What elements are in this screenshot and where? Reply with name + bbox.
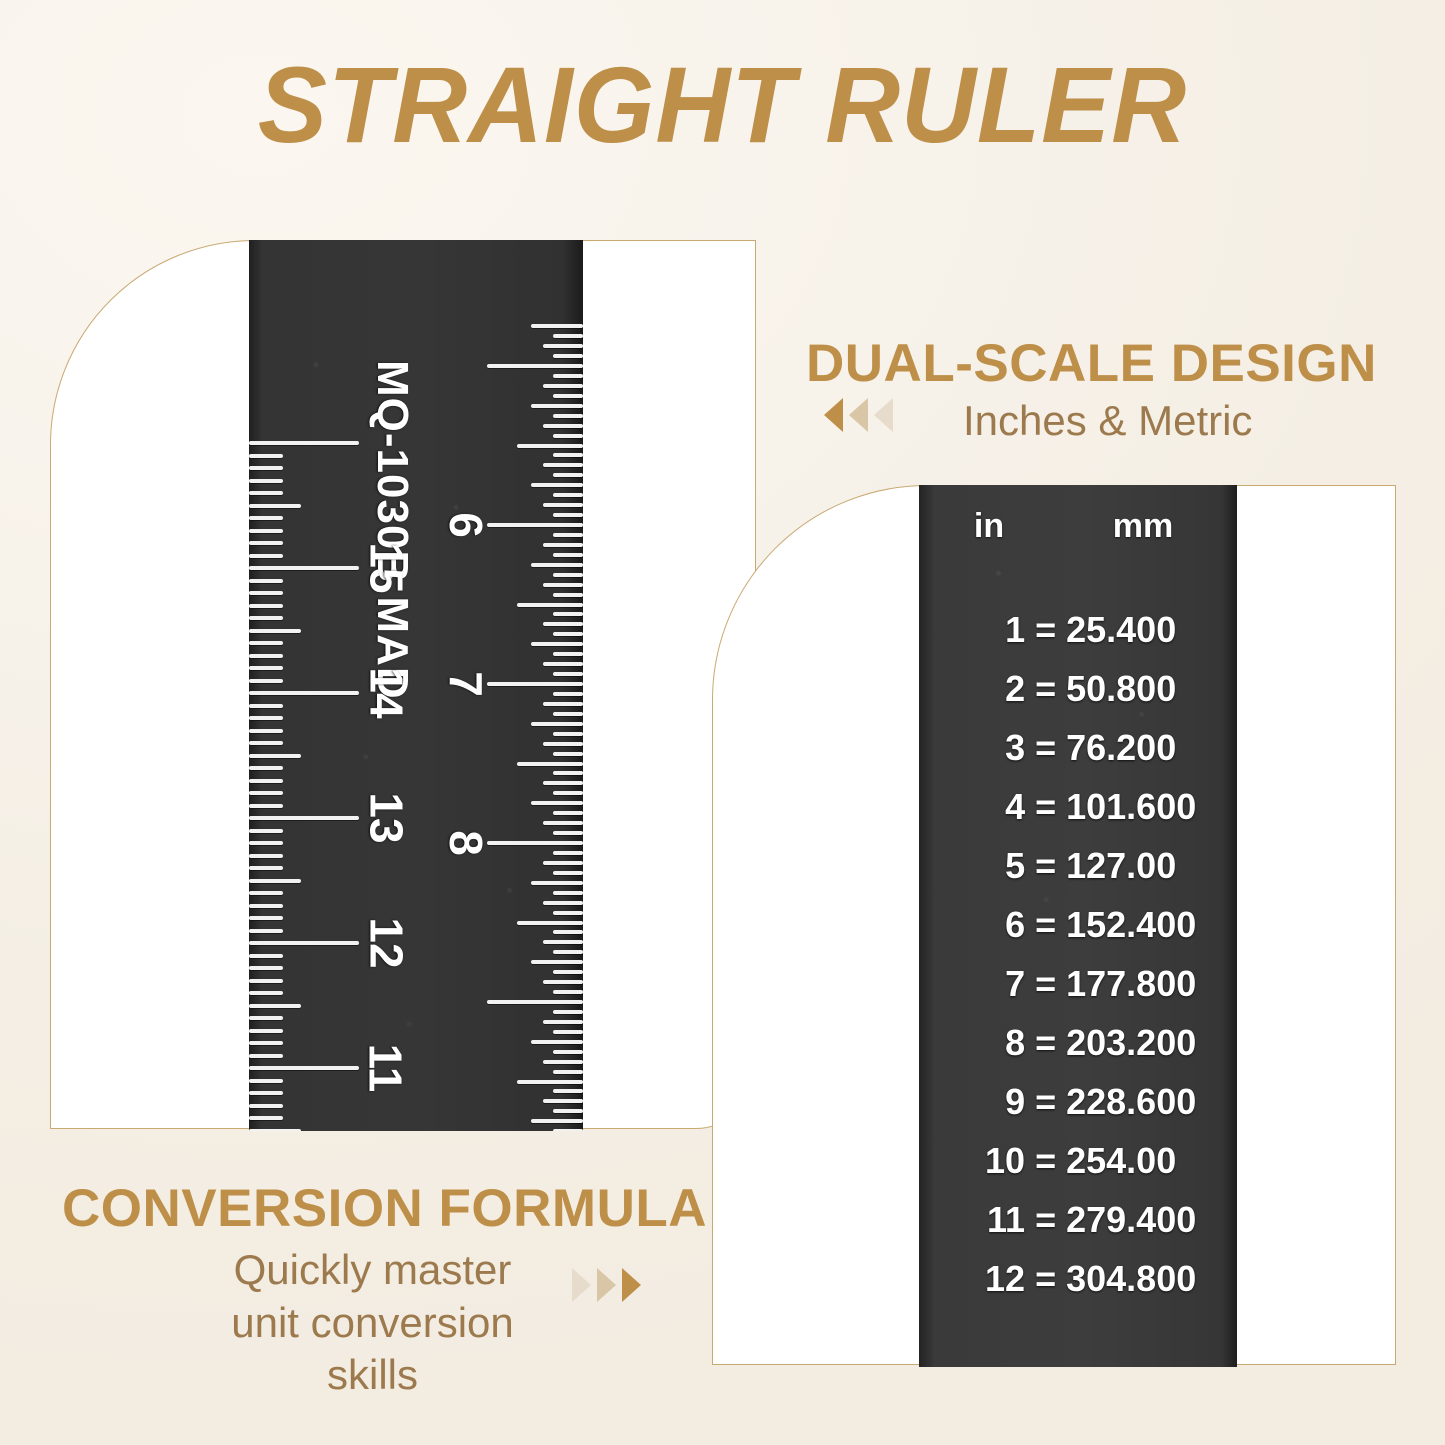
conversion-plate: inmm1 =25.4002 =50.8003 =76.2004 =101.60…: [919, 485, 1237, 1367]
ruler-tick-imperial: [543, 1099, 583, 1103]
ruler-tick-imperial: [543, 1060, 583, 1064]
ruler-tick-imperial: [553, 712, 583, 716]
ruler-tick-metric: [249, 1079, 283, 1083]
table-header-mm: mm: [1059, 507, 1227, 546]
conversion-formula-chevrons: [572, 1268, 641, 1302]
ruler-tick-imperial: [553, 473, 583, 477]
ruler-tick-metric: [249, 641, 283, 645]
ruler-tick-metric: [249, 954, 283, 958]
ruler-tick-imperial: [517, 1080, 583, 1084]
table-row: 8 =203.200: [919, 1022, 1237, 1064]
ruler-tick-imperial: [553, 891, 583, 895]
ruler-tick-imperial: [543, 1020, 583, 1024]
ruler-tick-metric: [249, 679, 283, 683]
ruler-tick-imperial: [543, 901, 583, 905]
table-row: 12 =304.800: [919, 1258, 1237, 1300]
ruler-tick-imperial: [553, 672, 583, 676]
ruler-tick-imperial: [517, 762, 583, 766]
ruler-tick-imperial: [531, 1040, 583, 1044]
ruler-tick-imperial: [531, 404, 583, 408]
table-cell-mm: 101.600: [1066, 786, 1237, 828]
ruler-metric-label: 15: [360, 542, 414, 593]
ruler-tick-imperial: [553, 871, 583, 875]
table-row: 3 =76.200: [919, 727, 1237, 769]
table-row: 11 =279.400: [919, 1199, 1237, 1241]
page-title: STRAIGHT RULER: [29, 48, 1416, 161]
ruler-tick-imperial: [531, 1119, 583, 1123]
table-cell-in: 10 =: [919, 1140, 1066, 1182]
ruler-tick-imperial: [553, 911, 583, 915]
ruler-tick-metric: [249, 691, 359, 695]
ruler-imperial-label: 7: [439, 671, 493, 697]
ruler-tick-imperial: [543, 463, 583, 467]
ruler-tick-imperial: [531, 801, 583, 805]
ruler-tick-metric: [249, 716, 283, 720]
ruler-tick-imperial: [553, 990, 583, 994]
ruler-tick-imperial: [543, 861, 583, 865]
table-header-in: in: [919, 507, 1059, 546]
ruler-tick-imperial: [543, 742, 583, 746]
ruler-tick-imperial: [543, 543, 583, 547]
ruler-tick-imperial: [553, 1070, 583, 1074]
conversion-table: inmm1 =25.4002 =50.8003 =76.2004 =101.60…: [919, 485, 1237, 1367]
ruler-tick-imperial: [553, 1089, 583, 1093]
ruler-tick-metric: [249, 1066, 359, 1070]
table-row: 6 =152.400: [919, 904, 1237, 946]
dual-scale-subtitle: Inches & Metric: [963, 397, 1252, 445]
table-cell-mm: 177.800: [1066, 963, 1237, 1005]
ruler-tick-metric: [249, 1104, 283, 1108]
dual-scale-chevrons: [824, 398, 893, 432]
table-row: 1 =25.400: [919, 609, 1237, 651]
ruler-tick-imperial: [543, 821, 583, 825]
ruler-tick-imperial: [553, 632, 583, 636]
ruler-tick-imperial: [553, 533, 583, 537]
ruler-tick-imperial: [543, 781, 583, 785]
ruler-tick-metric: [249, 441, 359, 445]
ruler-tick-metric: [249, 579, 283, 583]
table-cell-mm: 12.700: [1066, 1363, 1237, 1367]
ruler-tick-imperial: [543, 980, 583, 984]
ruler-tick-metric: [249, 1029, 283, 1033]
ruler-tick-metric: [249, 941, 359, 945]
ruler-imperial-label: 8: [439, 830, 493, 856]
ruler-tick-metric: [249, 816, 359, 820]
ruler-tick-metric: [249, 516, 283, 520]
ruler-tick-imperial: [487, 841, 583, 845]
ruler-tick-metric: [249, 754, 301, 758]
ruler-tick-imperial: [543, 622, 583, 626]
ruler-tick-metric: [249, 629, 301, 633]
table-row: 10 =254.00: [919, 1140, 1237, 1182]
ruler-tick-imperial: [553, 1050, 583, 1054]
ruler-tick-imperial: [487, 523, 583, 527]
ruler-tick-metric: [249, 541, 283, 545]
table-row: 1/2 =12.700: [919, 1363, 1237, 1367]
table-cell-in: 4 =: [919, 786, 1066, 828]
ruler-tick-metric: [249, 654, 283, 658]
ruler-tick-metric: [249, 554, 283, 558]
ruler-tick-imperial: [543, 424, 583, 428]
ruler-tick-imperial: [553, 652, 583, 656]
ruler-tick-imperial: [553, 831, 583, 835]
table-cell-in: 1/2 =: [919, 1363, 1066, 1367]
ruler-tick-metric: [249, 904, 283, 908]
ruler-tick-imperial: [531, 563, 583, 567]
table-row: 4 =101.600: [919, 786, 1237, 828]
ruler-tick-metric: [249, 979, 283, 983]
chevron-left-icon: [874, 398, 893, 432]
chevron-left-icon: [824, 398, 843, 432]
table-cell-in: 12 =: [919, 1258, 1066, 1300]
ruler-tick-metric: [249, 591, 283, 595]
table-cell-in: 1 =: [919, 609, 1066, 651]
table-cell-mm: 203.200: [1066, 1022, 1237, 1064]
ruler-tick-imperial: [553, 1129, 583, 1131]
chevron-right-icon: [597, 1268, 616, 1302]
ruler-tick-imperial: [553, 1030, 583, 1034]
table-cell-in: 2 =: [919, 668, 1066, 710]
chevron-right-icon: [572, 1268, 591, 1302]
ruler-tick-imperial: [553, 394, 583, 398]
ruler-tick-imperial: [553, 930, 583, 934]
conversion-formula-subtitle: Quickly master unit conversion skills: [200, 1244, 545, 1402]
ruler-photo-card: MQ-1030B MAD 9101112131415876: [50, 240, 756, 1129]
ruler-tick-metric: [249, 741, 283, 745]
ruler-tick-imperial: [553, 791, 583, 795]
ruler-tick-imperial: [543, 702, 583, 706]
table-cell-in: 7 =: [919, 963, 1066, 1005]
ruler-tick-metric: [249, 529, 283, 533]
ruler-tick-metric: [249, 804, 283, 808]
ruler-tick-metric: [249, 1016, 283, 1020]
ruler-tick-metric: [249, 854, 283, 858]
ruler-tick-imperial: [553, 573, 583, 577]
ruler-tick-metric: [249, 479, 283, 483]
table-cell-mm: 50.800: [1066, 668, 1237, 710]
ruler-tick-imperial: [553, 493, 583, 497]
table-cell-in: 11 =: [919, 1199, 1066, 1241]
ruler-tick-imperial: [531, 642, 583, 646]
ruler-tick-imperial: [553, 612, 583, 616]
ruler-tick-metric: [249, 1054, 283, 1058]
conversion-formula-title: CONVERSION FORMULA: [62, 1178, 707, 1239]
ruler-tick-metric: [249, 1041, 283, 1045]
ruler-tick-metric: [249, 766, 283, 770]
ruler-tick-metric: [249, 879, 301, 883]
ruler-tick-metric: [249, 779, 283, 783]
table-cell-mm: 152.400: [1066, 904, 1237, 946]
ruler-tick-imperial: [553, 752, 583, 756]
ruler-tick-metric: [249, 504, 301, 508]
dual-scale-title: DUAL-SCALE DESIGN: [806, 333, 1377, 394]
ruler-tick-imperial: [553, 1109, 583, 1113]
ruler-tick-imperial: [553, 334, 583, 338]
ruler-tick-imperial: [553, 851, 583, 855]
ruler-tick-imperial: [487, 1000, 583, 1004]
table-cell-mm: 279.400: [1066, 1199, 1237, 1241]
ruler-tick-metric: [249, 491, 283, 495]
ruler-tick-imperial: [553, 950, 583, 954]
table-cell-in: 6 =: [919, 904, 1066, 946]
ruler-tick-imperial: [553, 970, 583, 974]
ruler-tick-imperial: [553, 1010, 583, 1014]
ruler-tick-imperial: [487, 364, 583, 368]
table-cell-mm: 228.600: [1066, 1081, 1237, 1123]
ruler-tick-metric: [249, 666, 283, 670]
ruler-metric-label: 12: [360, 917, 414, 968]
table-cell-in: 8 =: [919, 1022, 1066, 1064]
ruler-tick-imperial: [553, 374, 583, 378]
ruler-tick-imperial: [487, 682, 583, 686]
ruler-tick-metric: [249, 1091, 283, 1095]
table-cell-mm: 127.00: [1066, 845, 1237, 887]
table-cell-in: 9 =: [919, 1081, 1066, 1123]
ruler-tick-imperial: [553, 692, 583, 696]
table-cell-mm: 254.00: [1066, 1140, 1237, 1182]
ruler-tick-imperial: [543, 940, 583, 944]
ruler-tick-imperial: [553, 513, 583, 517]
ruler-tick-metric: [249, 966, 283, 970]
ruler-tick-imperial: [553, 434, 583, 438]
table-cell-in: 3 =: [919, 727, 1066, 769]
table-row: 7 =177.800: [919, 963, 1237, 1005]
table-row: 9 =228.600: [919, 1081, 1237, 1123]
ruler-tick-imperial: [553, 732, 583, 736]
ruler-metric-label: 14: [360, 667, 414, 718]
ruler-tick-imperial: [553, 354, 583, 358]
infographic-stage: STRAIGHT RULER MQ-1030B MAD 910111213141…: [0, 0, 1445, 1445]
table-cell-mm: 304.800: [1066, 1258, 1237, 1300]
ruler-tick-metric: [249, 616, 283, 620]
ruler-tick-imperial: [531, 881, 583, 885]
ruler-tick-imperial: [543, 662, 583, 666]
ruler-tick-metric: [249, 829, 283, 833]
ruler-metric-label: 13: [360, 792, 414, 843]
ruler-tick-imperial: [517, 444, 583, 448]
ruler-tick-imperial: [543, 344, 583, 348]
ruler-tick-imperial: [531, 960, 583, 964]
ruler-tick-metric: [249, 991, 283, 995]
ruler-tick-metric: [249, 454, 283, 458]
ruler-tick-imperial: [553, 453, 583, 457]
ruler-tick-imperial: [543, 503, 583, 507]
ruler-imperial-label: 6: [439, 512, 493, 538]
ruler-tick-imperial: [531, 483, 583, 487]
ruler-tick-metric: [249, 866, 283, 870]
chevron-right-icon: [622, 1268, 641, 1302]
table-header-row: inmm: [919, 485, 1237, 546]
ruler-body: MQ-1030B MAD 9101112131415876: [249, 240, 583, 1131]
ruler-model-text: MQ-1030B MAD: [367, 360, 417, 700]
ruler-tick-imperial: [543, 384, 583, 388]
ruler-tick-metric: [249, 604, 283, 608]
ruler-tick-metric: [249, 891, 283, 895]
ruler-tick-metric: [249, 1116, 283, 1120]
ruler-tick-imperial: [553, 414, 583, 418]
table-cell-in: 5 =: [919, 845, 1066, 887]
table-spacer: [919, 1300, 1237, 1346]
ruler-tick-imperial: [553, 593, 583, 597]
ruler-tick-metric: [249, 791, 283, 795]
table-cell-mm: 76.200: [1066, 727, 1237, 769]
conversion-table-card: inmm1 =25.4002 =50.8003 =76.2004 =101.60…: [712, 485, 1396, 1365]
ruler-metric-label: 11: [358, 1044, 412, 1093]
ruler-tick-metric: [249, 566, 359, 570]
ruler-tick-imperial: [553, 771, 583, 775]
ruler-tick-imperial: [553, 811, 583, 815]
table-spacer: [919, 546, 1237, 592]
ruler-tick-imperial: [543, 583, 583, 587]
ruler-tick-metric: [249, 929, 283, 933]
ruler-tick-metric: [249, 1129, 301, 1132]
ruler-tick-metric: [249, 916, 283, 920]
table-row: 5 =127.00: [919, 845, 1237, 887]
ruler-tick-imperial: [531, 722, 583, 726]
table-cell-mm: 25.400: [1066, 609, 1237, 651]
ruler-tick-imperial: [531, 324, 583, 328]
chevron-left-icon: [849, 398, 868, 432]
ruler-tick-imperial: [553, 553, 583, 557]
table-row: 2 =50.800: [919, 668, 1237, 710]
ruler-tick-metric: [249, 704, 283, 708]
ruler-tick-metric: [249, 729, 283, 733]
ruler-tick-imperial: [517, 603, 583, 607]
ruler-tick-metric: [249, 1004, 301, 1008]
ruler-tick-metric: [249, 841, 283, 845]
ruler-tick-imperial: [517, 921, 583, 925]
ruler-tick-metric: [249, 466, 283, 470]
